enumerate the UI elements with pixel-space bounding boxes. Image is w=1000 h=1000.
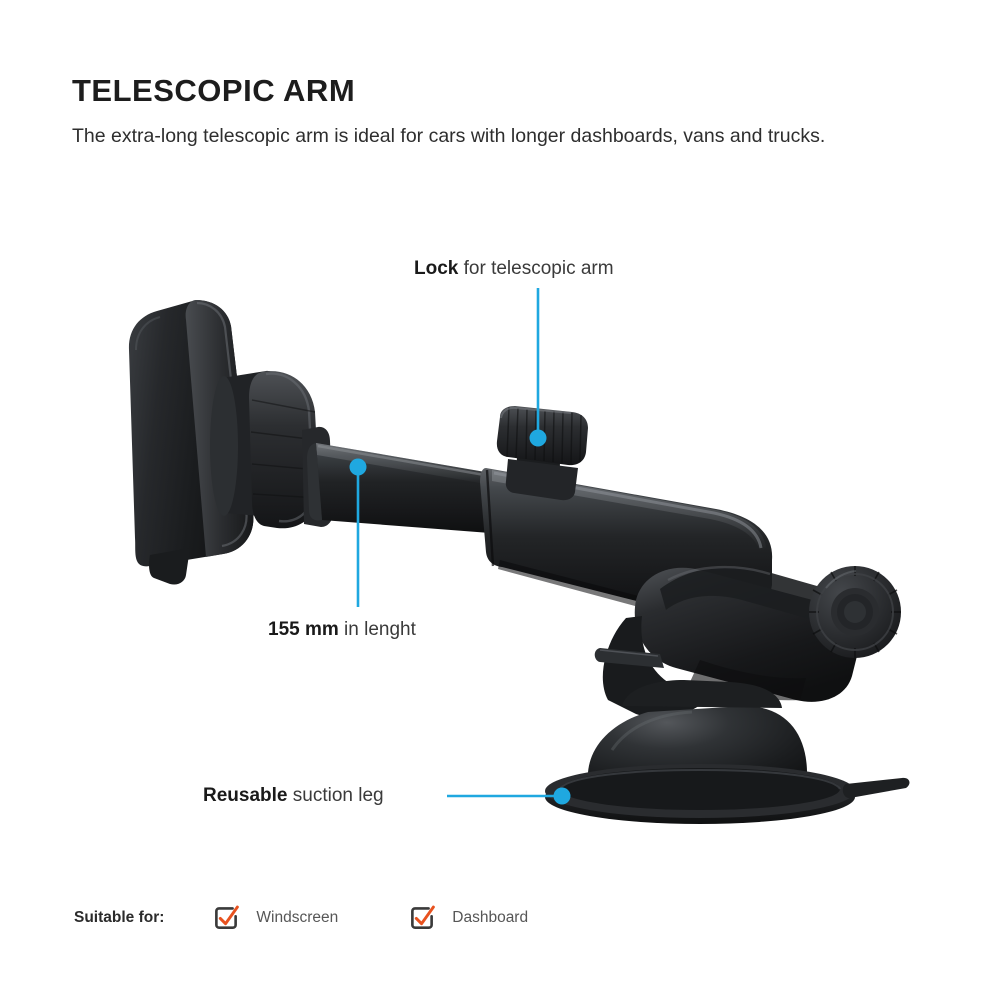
lock-thumb-knob bbox=[497, 406, 588, 500]
magnetic-plate-head bbox=[129, 300, 253, 585]
inner-telescopic-tube bbox=[302, 427, 503, 534]
suitable-for-row: Suitable for: Windscreen Dashboard bbox=[74, 903, 528, 933]
release-lever bbox=[595, 648, 664, 668]
leader-dot-lock bbox=[530, 430, 547, 447]
suitable-option-dashboard[interactable]: Dashboard bbox=[408, 904, 528, 932]
callout-label-length: 155 mm in lenght bbox=[268, 620, 416, 639]
leader-dot-length bbox=[350, 459, 367, 476]
knurled-collar-nut bbox=[249, 371, 319, 528]
suitable-option-label: Windscreen bbox=[256, 909, 338, 927]
suction-cup-rim bbox=[545, 764, 855, 824]
outer-telescopic-tube bbox=[480, 468, 772, 627]
suction-cup-dome bbox=[588, 680, 807, 798]
callout-lock-strong: Lock bbox=[414, 258, 458, 279]
callout-lock-rest: for telescopic arm bbox=[458, 258, 613, 279]
suitable-option-label: Dashboard bbox=[452, 909, 528, 927]
checkbox-checked-icon[interactable] bbox=[408, 904, 436, 932]
suitable-option-windscreen[interactable]: Windscreen bbox=[212, 904, 338, 932]
callout-length-strong: 155 mm bbox=[268, 619, 339, 640]
callout-suction-strong: Reusable bbox=[203, 785, 287, 806]
pull-tab bbox=[843, 778, 910, 798]
callout-suction-rest: suction leg bbox=[287, 785, 383, 806]
leader-dot-suction bbox=[554, 788, 571, 805]
callout-length-rest: in lenght bbox=[339, 619, 416, 640]
checkbox-checked-icon[interactable] bbox=[212, 904, 240, 932]
page-subtitle: The extra-long telescopic arm is ideal f… bbox=[72, 122, 842, 151]
header-block: TELESCOPIC ARM The extra-long telescopic… bbox=[72, 74, 872, 151]
callout-label-suction: Reusable suction leg bbox=[203, 786, 384, 805]
suitable-for-label: Suitable for: bbox=[74, 909, 164, 927]
knurled-rotation-joint bbox=[809, 566, 901, 658]
callout-label-lock: Lock for telescopic arm bbox=[414, 259, 614, 278]
pivot-arm bbox=[603, 567, 859, 718]
ball-joint bbox=[210, 371, 285, 517]
page-title: TELESCOPIC ARM bbox=[72, 74, 872, 108]
